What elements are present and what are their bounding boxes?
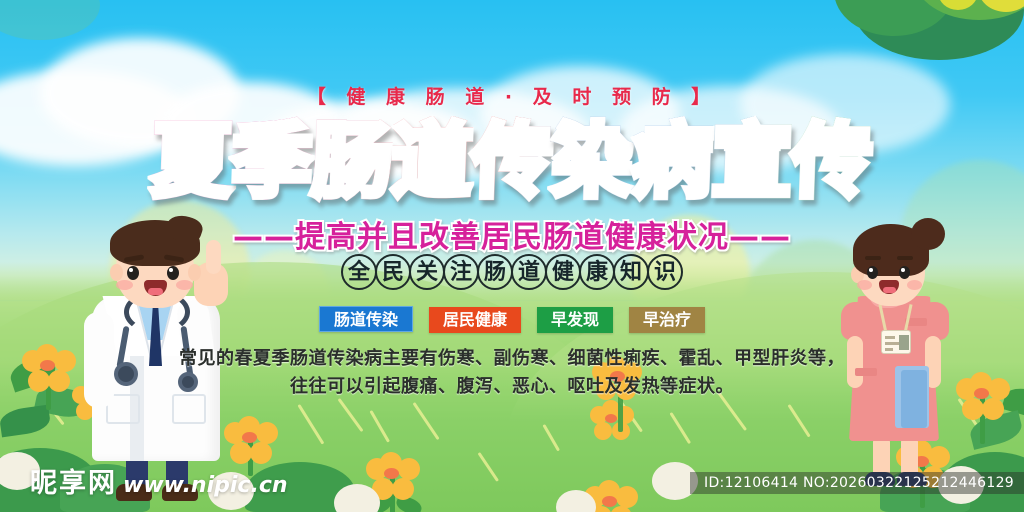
poster-canvas: 【 健 康 肠 道 · 及 时 预 防 】 夏季肠道传染病宣传 ——提高并且改善… xyxy=(0,0,1024,512)
doctor-coat-pocket xyxy=(172,394,206,424)
main-title-char: 道 xyxy=(390,116,473,208)
watermark-name: 昵享网 xyxy=(30,468,117,499)
body-text-line-2: 往往可以引起腹痛、腹泻、恶心、呕吐及发热等症状。 xyxy=(0,372,1024,398)
tag-row: 肠道传染居民健康早发现早治疗 xyxy=(0,306,1024,333)
main-title-char: 病 xyxy=(630,116,713,208)
circled-char: 识 xyxy=(647,254,683,290)
nurse-badge-line xyxy=(885,336,895,339)
circled-char: 关 xyxy=(409,254,445,290)
tag-2[interactable]: 居民健康 xyxy=(429,307,521,333)
main-title-char: 夏 xyxy=(150,116,233,208)
circled-char: 知 xyxy=(613,254,649,290)
circled-char: 注 xyxy=(443,254,479,290)
main-title-char: 季 xyxy=(230,116,313,208)
circled-char: 道 xyxy=(511,254,547,290)
circled-char: 肠 xyxy=(477,254,513,290)
nurse-leg xyxy=(873,438,890,476)
circled-char: 民 xyxy=(375,254,411,290)
circled-char: 健 xyxy=(545,254,581,290)
tag-3[interactable]: 早发现 xyxy=(537,307,613,333)
circled-slogan: 全民关注肠道健康知识 xyxy=(0,254,1024,290)
tree-canopy xyxy=(844,0,1024,80)
main-title-char: 肠 xyxy=(310,116,393,208)
main-title: 夏季肠道传染病宣传 xyxy=(0,116,1024,208)
image-id-label: ID:12106414 NO:20260322125212446129 xyxy=(690,472,1024,494)
main-title-char: 染 xyxy=(550,116,633,208)
eyebrow-text: 【 健 康 肠 道 · 及 时 预 防 】 xyxy=(0,82,1024,109)
circled-char: 康 xyxy=(579,254,615,290)
tag-1[interactable]: 肠道传染 xyxy=(319,306,413,332)
circled-char: 全 xyxy=(341,254,377,290)
main-title-char: 宣 xyxy=(710,116,793,208)
subtitle-text: ——提高并且改善居民肠道健康状况—— xyxy=(0,212,1024,256)
main-title-char: 传 xyxy=(790,116,873,208)
watermark-url: www.nipic.cn xyxy=(123,473,288,498)
nurse-leg xyxy=(901,438,918,476)
main-title-char: 传 xyxy=(470,116,553,208)
watermark: 昵享网www.nipic.cn xyxy=(30,461,288,500)
body-text-line-1: 常见的春夏季肠道传染病主要有伤寒、副伤寒、细菌性痢疾、霍乱、甲型肝炎等， xyxy=(0,344,1024,370)
tree-canopy-corner-left xyxy=(0,0,110,50)
tag-4[interactable]: 早治疗 xyxy=(629,307,705,333)
